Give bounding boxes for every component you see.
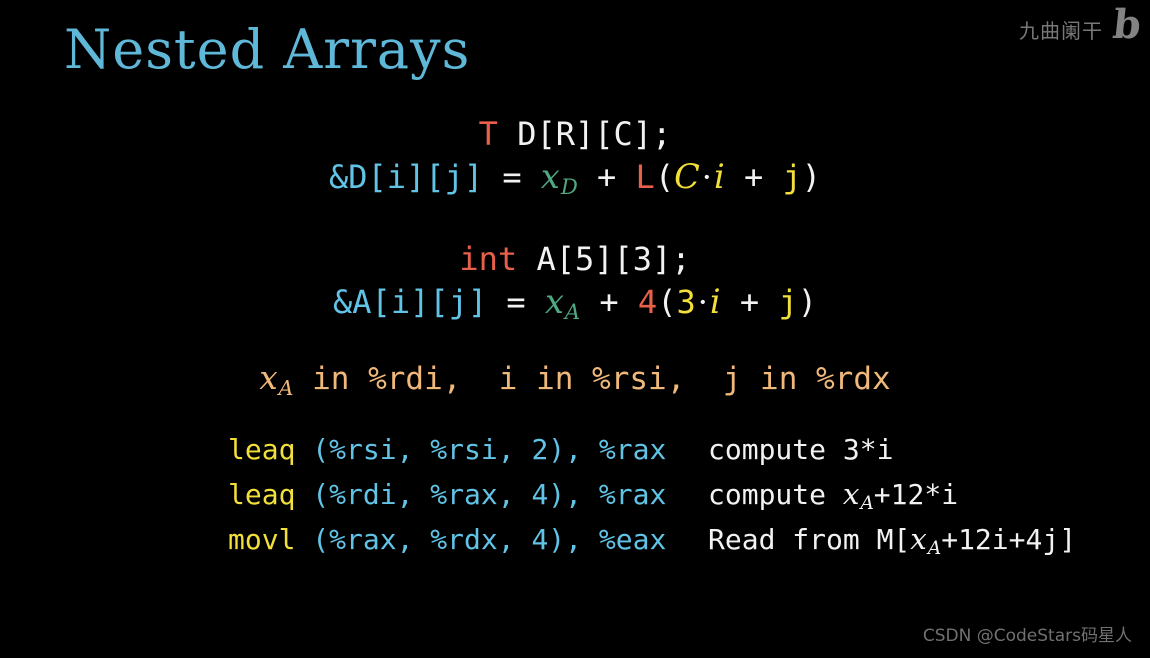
generic-lhs: &D[i][j] bbox=[329, 158, 483, 196]
generic-close-paren: ) bbox=[802, 158, 821, 196]
assembly-mnemonic: movl bbox=[228, 523, 295, 556]
assembly-mnemonic: leaq bbox=[228, 433, 295, 466]
generic-scale-factor: L bbox=[636, 158, 655, 196]
assembly-note: Read from M[xA+12i+4j] bbox=[708, 522, 1076, 559]
concrete-multiply-dot: · bbox=[696, 283, 710, 321]
assembly-code: movl (%rax, %rdx, 4), %eax bbox=[228, 523, 708, 556]
assembly-note-subscript: A bbox=[860, 493, 873, 514]
concrete-plus-2: + bbox=[740, 283, 759, 321]
assembly-row: movl (%rax, %rdx, 4), %eax Read from M[x… bbox=[228, 522, 1150, 567]
register-base-subscript: A bbox=[279, 376, 294, 400]
generic-open-paren: ( bbox=[655, 158, 674, 196]
slide-content: T D[R][C]; &D[i][j] = xD + L(C·i + j) in… bbox=[0, 118, 1150, 567]
generic-array-block: T D[R][C]; &D[i][j] = xD + L(C·i + j) bbox=[0, 118, 1150, 197]
concrete-lhs: &A[i][j] bbox=[333, 283, 487, 321]
concrete-equals: = bbox=[506, 283, 525, 321]
assembly-note-prefix: compute 3*i bbox=[708, 433, 893, 466]
assembly-note-suffix: +12i+4j] bbox=[941, 523, 1076, 556]
concrete-base-subscript: A bbox=[565, 299, 580, 324]
assembly-code: leaq (%rsi, %rsi, 2), %rax bbox=[228, 433, 708, 466]
assembly-operands: (%rdi, %rax, 4), %rax bbox=[295, 478, 666, 511]
assembly-code: leaq (%rdi, %rax, 4), %rax bbox=[228, 478, 708, 511]
concrete-declaration: int A[5][3]; bbox=[0, 243, 1150, 275]
assembly-operands: (%rsi, %rsi, 2), %rax bbox=[295, 433, 666, 466]
register-assignment-text: in %rdi, i in %rsi, j in %rdx bbox=[293, 361, 890, 397]
assembly-note-var: x bbox=[910, 522, 927, 556]
bottom-watermark: CSDN @CodeStars码星人 bbox=[923, 621, 1132, 646]
generic-plus-2: + bbox=[744, 158, 763, 196]
generic-index-i: i bbox=[714, 157, 725, 196]
register-assignment-line: xA in %rdi, i in %rsi, j in %rdx bbox=[0, 362, 1150, 398]
assembly-note-prefix: compute bbox=[708, 478, 843, 511]
generic-multiply-dot: · bbox=[700, 158, 714, 196]
page-title: Nested Arrays bbox=[64, 18, 470, 81]
concrete-address-formula: &A[i][j] = xA + 4(3·i + j) bbox=[0, 285, 1150, 322]
concrete-column-factor: 3 bbox=[676, 283, 695, 321]
generic-address-formula: &D[i][j] = xD + L(C·i + j) bbox=[0, 160, 1150, 197]
assembly-row: leaq (%rdi, %rax, 4), %rax compute xA+12… bbox=[228, 477, 1150, 522]
watermark-text: 九曲阑干 bbox=[1019, 15, 1103, 44]
concrete-type-keyword: int bbox=[459, 240, 517, 278]
concrete-scale-factor: 4 bbox=[638, 283, 657, 321]
generic-declaration: T D[R][C]; bbox=[0, 118, 1150, 150]
concrete-plus-1: + bbox=[599, 283, 618, 321]
register-base-var: x bbox=[259, 359, 277, 397]
concrete-declaration-rest: A[5][3]; bbox=[517, 240, 690, 278]
assembly-note-var: x bbox=[843, 477, 860, 511]
assembly-row: leaq (%rsi, %rsi, 2), %rax compute 3*i bbox=[228, 432, 1150, 477]
generic-type-keyword: T bbox=[479, 115, 498, 153]
generic-equals: = bbox=[502, 158, 521, 196]
assembly-mnemonic: leaq bbox=[228, 478, 295, 511]
concrete-open-paren: ( bbox=[657, 283, 676, 321]
generic-column-factor: C bbox=[674, 157, 700, 196]
assembly-note-subscript: A bbox=[928, 538, 941, 559]
generic-declaration-rest: D[R][C]; bbox=[498, 115, 671, 153]
concrete-index-i: i bbox=[710, 282, 721, 321]
assembly-note-prefix: Read from M[ bbox=[708, 523, 910, 556]
concrete-close-paren: ) bbox=[798, 283, 817, 321]
concrete-index-j: j bbox=[778, 283, 797, 321]
block-spacer bbox=[0, 197, 1150, 243]
generic-base-subscript: D bbox=[561, 174, 578, 199]
bilibili-logo-icon: b bbox=[1111, 10, 1143, 40]
assembly-note: compute xA+12*i bbox=[708, 477, 958, 514]
generic-index-j: j bbox=[783, 158, 802, 196]
assembly-listing: leaq (%rsi, %rsi, 2), %rax compute 3*i l… bbox=[0, 432, 1150, 567]
concrete-base-var: x bbox=[545, 282, 564, 321]
concrete-array-block: int A[5][3]; &A[i][j] = xA + 4(3·i + j) bbox=[0, 243, 1150, 322]
generic-plus-1: + bbox=[597, 158, 616, 196]
assembly-note-suffix: +12*i bbox=[874, 478, 958, 511]
top-watermark: 九曲阑干 b bbox=[1019, 14, 1142, 44]
assembly-operands: (%rax, %rdx, 4), %eax bbox=[295, 523, 666, 556]
assembly-note: compute 3*i bbox=[708, 432, 894, 469]
generic-base-var: x bbox=[541, 157, 560, 196]
